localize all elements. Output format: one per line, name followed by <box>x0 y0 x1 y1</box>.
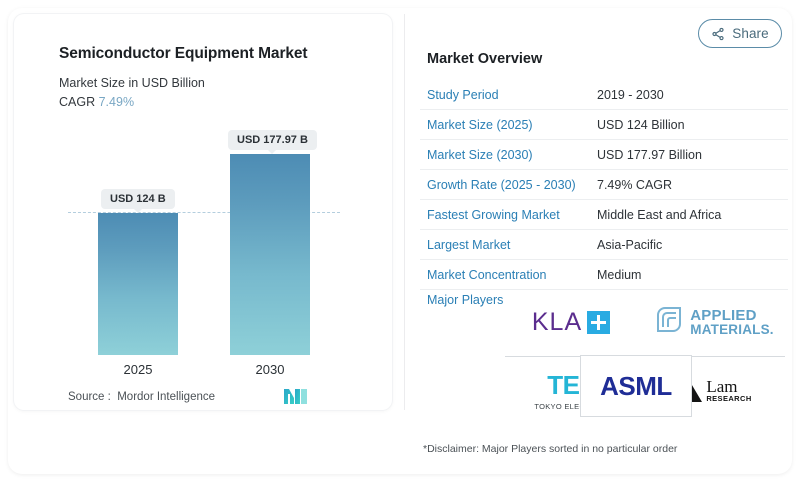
row-value: USD 177.97 Billion <box>597 148 702 162</box>
row-value: Middle East and Africa <box>597 208 721 222</box>
chart-cagr: CAGR 7.49% <box>59 95 134 109</box>
table-row: Study Period 2019 - 2030 <box>420 80 788 110</box>
table-row: Growth Rate (2025 - 2030) 7.49% CAGR <box>420 170 788 200</box>
lam-line2: RESEARCH <box>706 395 751 403</box>
logo-kla: KLA <box>505 288 637 356</box>
bar-2030[interactable] <box>230 154 310 355</box>
x-axis-label-2025: 2025 <box>93 362 183 377</box>
overview-title: Market Overview <box>427 51 542 67</box>
row-key: Growth Rate (2025 - 2030) <box>420 178 597 192</box>
table-row: Largest Market Asia-Pacific <box>420 230 788 260</box>
bar-label-2025: USD 124 B <box>101 189 175 209</box>
source-name: Mordor Intelligence <box>117 391 215 403</box>
chart-title: Semiconductor Equipment Market <box>59 45 307 63</box>
table-row: Market Concentration Medium <box>420 260 788 290</box>
mordor-intelligence-logo-icon <box>283 387 309 406</box>
x-axis-label-2030: 2030 <box>225 362 315 377</box>
share-label: Share <box>732 26 769 41</box>
asml-wordmark: ASML <box>600 371 672 402</box>
applied-materials-glyph-icon <box>654 305 684 340</box>
share-icon <box>711 27 725 41</box>
bar-2025[interactable] <box>98 213 178 355</box>
applied-materials-line1: APPLIED <box>690 308 774 323</box>
table-row: Market Size (2025) USD 124 Billion <box>420 110 788 140</box>
plus-square-icon <box>587 311 610 334</box>
cagr-value: 7.49% <box>99 95 134 109</box>
kla-wordmark: KLA <box>532 308 582 337</box>
overview-table: Study Period 2019 - 2030 Market Size (20… <box>420 80 788 290</box>
row-value: USD 124 Billion <box>597 118 685 132</box>
row-value: Medium <box>597 268 641 282</box>
source-label: Source : <box>68 391 111 403</box>
logo-applied-materials: APPLIED MATERIALS. <box>643 288 785 356</box>
table-row: Fastest Growing Market Middle East and A… <box>420 200 788 230</box>
logo-asml: ASML <box>580 355 692 417</box>
row-key: Market Concentration <box>420 268 597 282</box>
row-key: Fastest Growing Market <box>420 208 597 222</box>
share-button[interactable]: Share <box>698 19 782 48</box>
row-key: Market Size (2025) <box>420 118 597 132</box>
chart-source: Source : Mordor Intelligence <box>68 391 215 403</box>
table-row: Market Size (2030) USD 177.97 Billion <box>420 140 788 170</box>
applied-materials-line2: MATERIALS. <box>690 323 774 337</box>
cagr-label: CAGR <box>59 95 95 109</box>
row-key: Largest Market <box>420 238 597 252</box>
screenshot-root: Share Semiconductor Equipment Market Mar… <box>0 0 800 482</box>
row-value: 2019 - 2030 <box>597 88 664 102</box>
chart-subtitle: Market Size in USD Billion <box>59 76 205 90</box>
bar-label-2030: USD 177.97 B <box>228 130 317 150</box>
row-value: Asia-Pacific <box>597 238 662 252</box>
row-key: Study Period <box>420 88 597 102</box>
row-value: 7.49% CAGR <box>597 178 672 192</box>
panel-divider <box>404 14 405 410</box>
major-players-label: Major Players <box>427 293 503 307</box>
row-key: Market Size (2030) <box>420 148 597 162</box>
lam-line1: Lam <box>706 378 751 395</box>
disclaimer-text: *Disclaimer: Major Players sorted in no … <box>423 443 677 455</box>
